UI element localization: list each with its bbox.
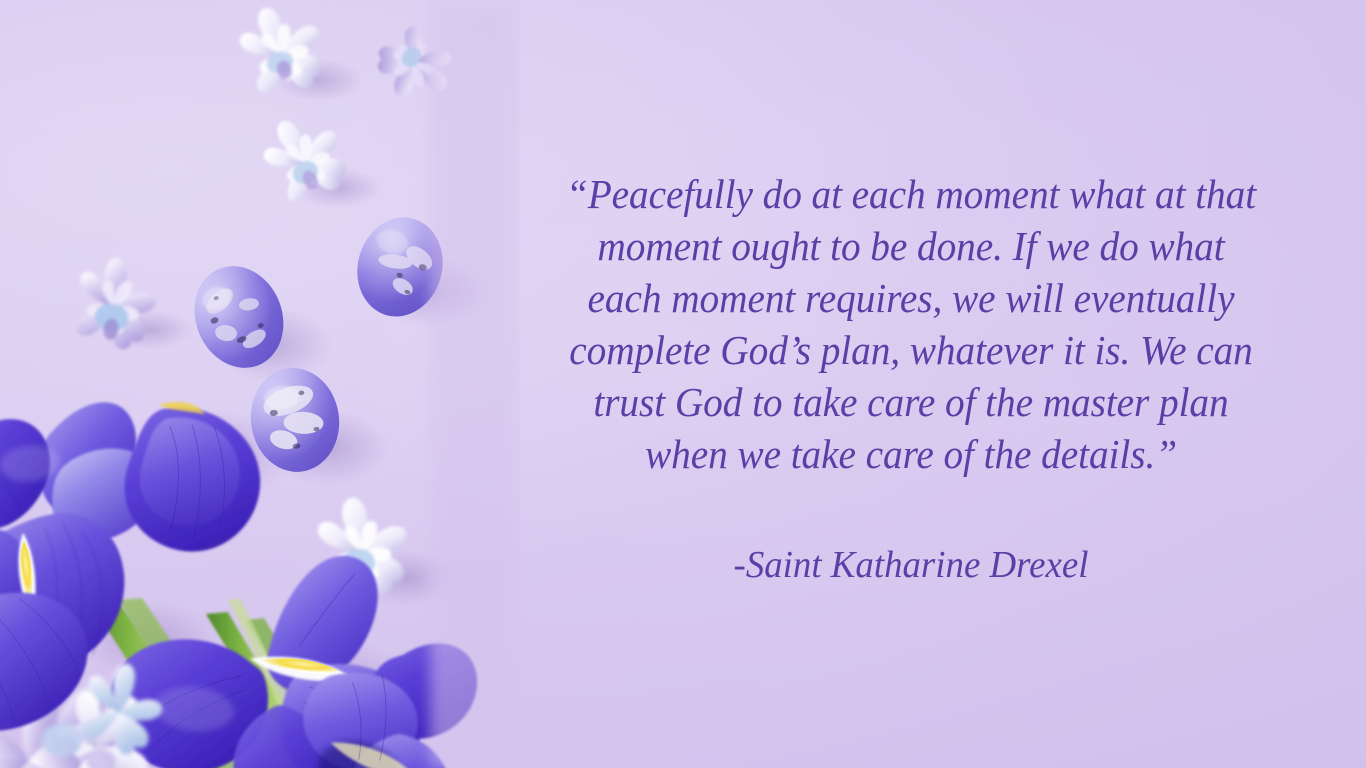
quote-text: “Peacefully do at each moment what at th… [516,168,1305,480]
quote-block: “Peacefully do at each moment what at th… [500,168,1322,588]
quote-card: “Peacefully do at each moment what at th… [0,0,1366,768]
quote-attribution: -Saint Katharine Drexel [512,542,1309,588]
